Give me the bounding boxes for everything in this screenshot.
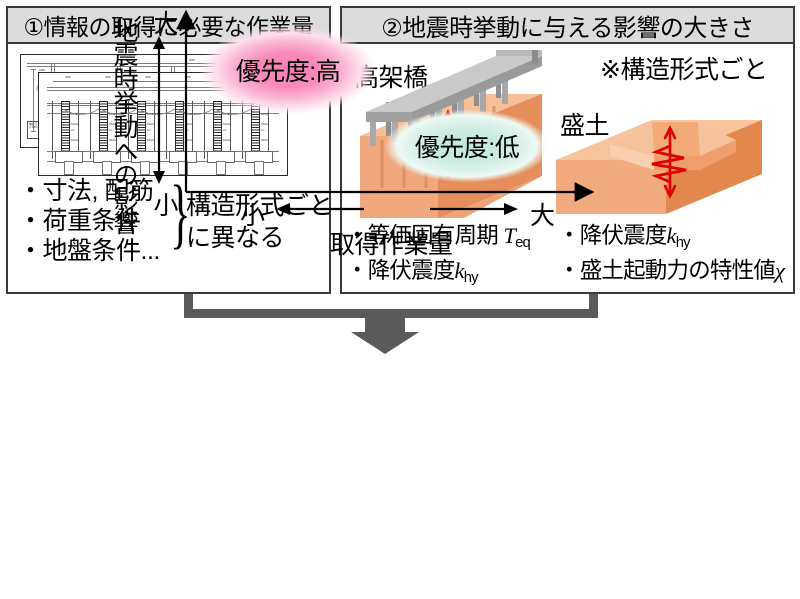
- embankment-param-0: ・降伏震度khy: [558, 222, 784, 257]
- x-axis-high-label: 大: [530, 196, 555, 232]
- x-axis-title: 取得作業量: [330, 225, 453, 261]
- viaduct-param-1-text: 降伏震度: [368, 258, 455, 283]
- viaduct-param-1-symbol: k: [455, 258, 464, 283]
- x-axis-low-label: 小: [240, 196, 265, 232]
- viaduct-param-1-subscript: hy: [464, 270, 478, 286]
- embankment-param-0-symbol: k: [667, 223, 676, 248]
- region-high-priority-label: 優先度:高: [236, 52, 340, 88]
- panel-1-bullet-2: ・地盤条件...: [18, 236, 160, 266]
- viaduct-param-0-subscript: eq: [515, 235, 530, 251]
- down-arrow-icon: [351, 316, 419, 354]
- bullet-marker: ・: [558, 258, 580, 283]
- region-low-priority: 優先度:低: [378, 105, 556, 187]
- embankment-parameter-list: ・降伏震度khy ・盛土起動力の特性値χ: [558, 222, 784, 284]
- bullet-marker: ・: [346, 258, 368, 283]
- region-low-priority-label: 優先度:低: [415, 128, 519, 164]
- bullet-marker: ・: [558, 223, 580, 248]
- y-axis-title: 地震時挙動への影響: [106, 18, 142, 234]
- viaduct-param-1: ・降伏震度khy: [346, 257, 530, 292]
- y-axis-direction-arrow: [148, 36, 170, 184]
- embankment-param-1-text: 盛土起動力の特性値: [580, 258, 775, 283]
- y-axis-high-label: 大: [146, 10, 182, 35]
- y-axis-low-label: 小: [146, 192, 182, 217]
- embankment-param-1-symbol: χ: [775, 258, 784, 283]
- flow-connector-arrow: [0, 292, 800, 354]
- x-axis-direction-arrows: [272, 198, 522, 220]
- embankment-param-0-subscript: hy: [676, 235, 690, 251]
- embankment-param-0-text: 降伏震度: [580, 223, 667, 248]
- region-high-priority: 優先度:高: [193, 20, 383, 120]
- viaduct-param-0-symbol: T: [503, 223, 515, 248]
- embankment-param-1: ・盛土起動力の特性値χ: [558, 257, 784, 284]
